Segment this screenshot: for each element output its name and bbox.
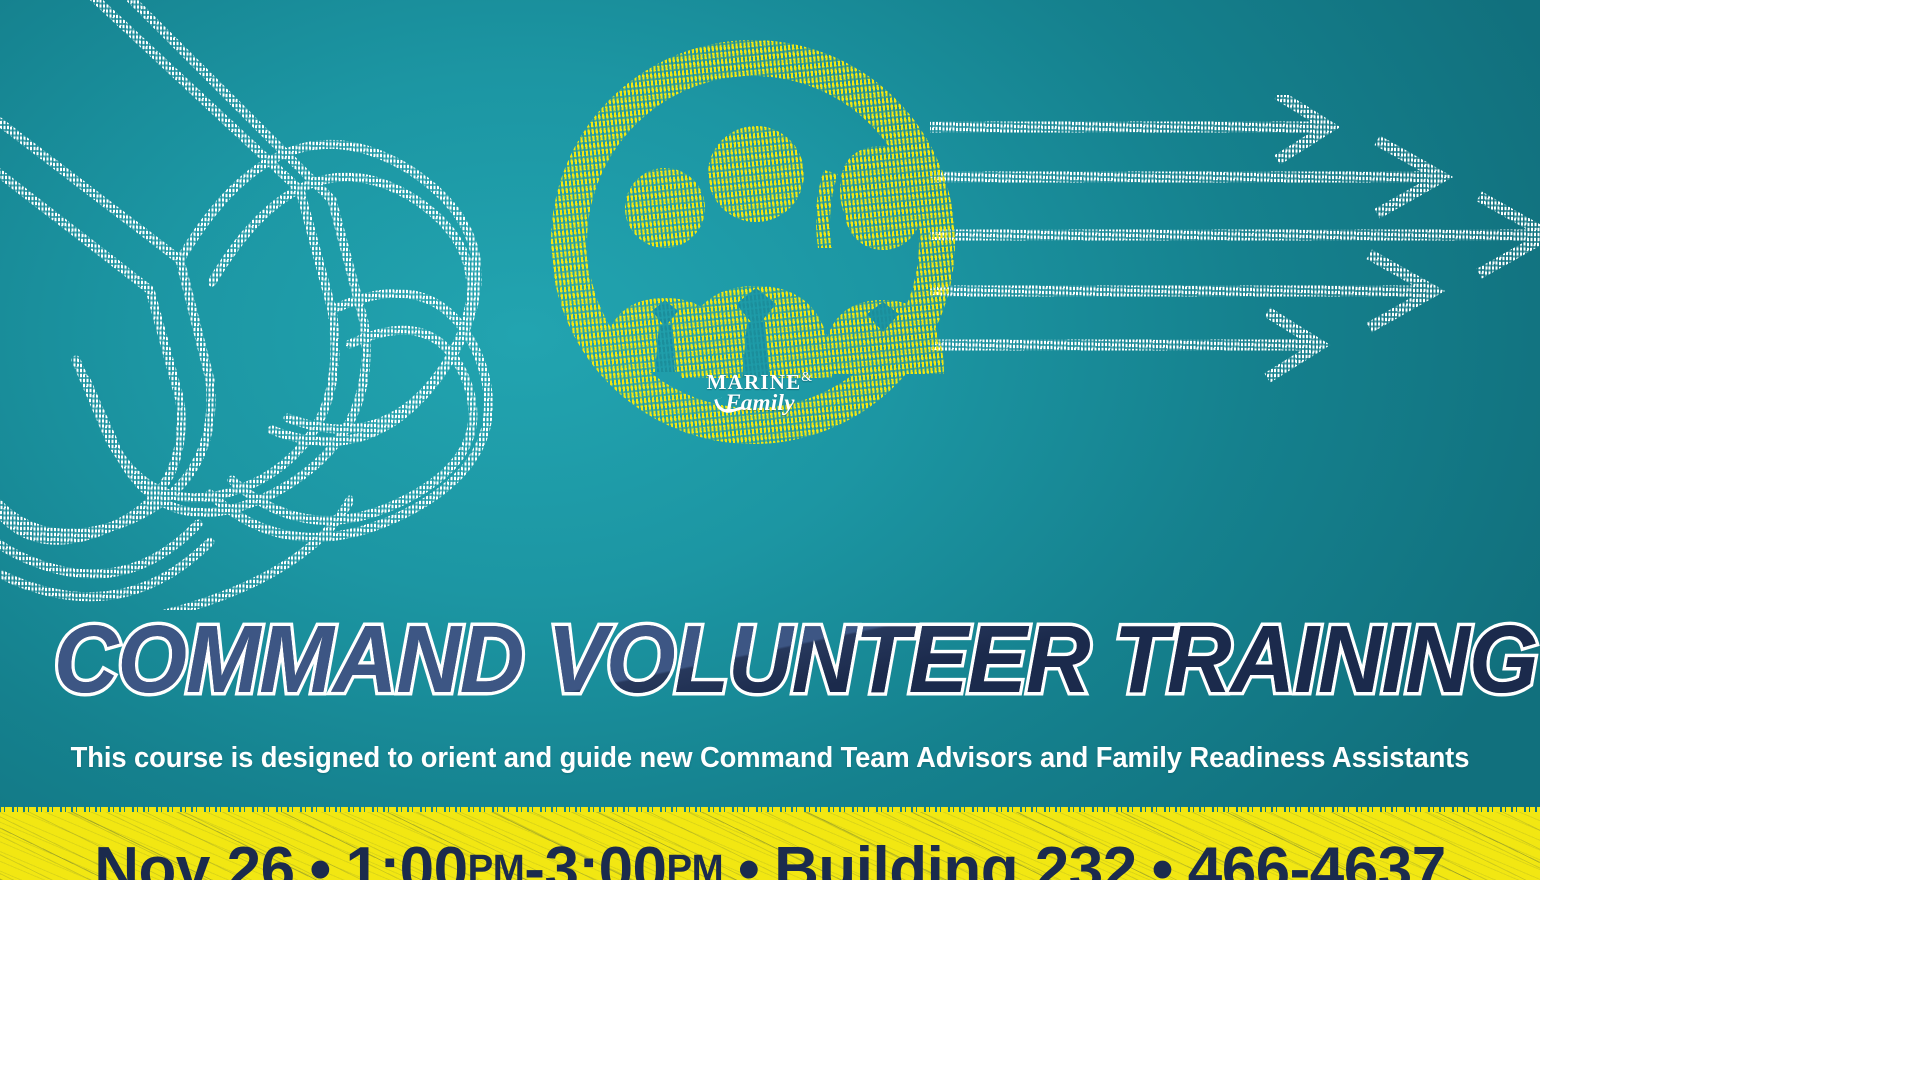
event-date: Nov 26 [94,834,294,881]
page-title: COMMAND VOLUNTEER TRAINING COMMAND VOLUN… [54,612,1486,708]
separator-1: • [295,834,346,881]
chalk-forward-arrows [930,95,1540,395]
event-phone: 466-4637 [1188,834,1446,881]
event-time-end: 3:00 [544,834,666,881]
separator-3: • [1137,834,1188,881]
time-dash: - [524,834,544,881]
event-time-start-suffix: PM [468,847,525,880]
event-flyer: MARINE& Family COMMAND VOLUNTEER TRAININ… [0,0,1540,880]
page-title-fill: COMMAND VOLUNTEER TRAINING [54,612,1538,708]
chalk-interlocking-loops [0,0,520,610]
event-time-start: 1:00 [346,834,468,881]
chalk-circle [540,22,980,482]
event-time-end-suffix: PM [667,847,724,880]
event-details-banner: Nov 26 • 1:00PM-3:00PM • Building 232 • … [0,812,1540,880]
event-details-text: Nov 26 • 1:00PM-3:00PM • Building 232 • … [0,812,1540,880]
separator-2: • [723,834,774,881]
event-location: Building 232 [774,834,1137,881]
three-people-group-icon [602,126,950,378]
page-subtitle: This course is designed to orient and gu… [31,742,1509,775]
